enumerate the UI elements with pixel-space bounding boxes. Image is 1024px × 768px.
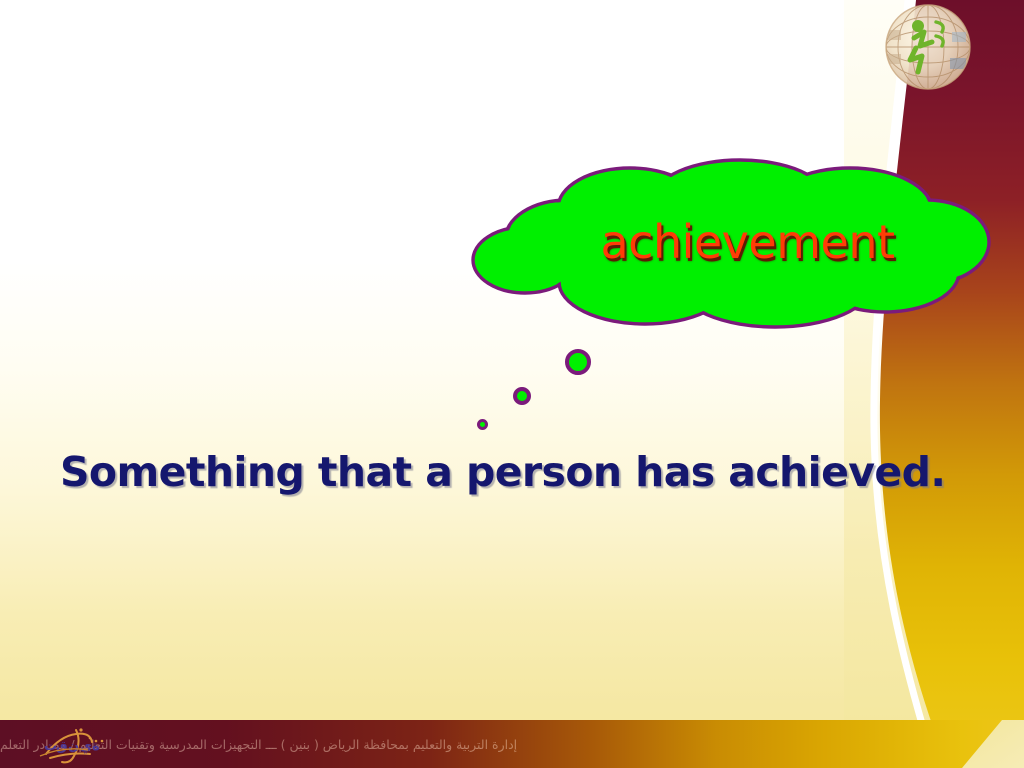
thought-dot-medium: [513, 387, 531, 405]
footer-arabic-text: إدارة التربية والتعليم بمحافظة الرياض ( …: [0, 720, 880, 768]
slide-footer: إدارة التربية والتعليم بمحافظة الرياض ( …: [0, 720, 1024, 768]
svg-text:ن: ن: [68, 739, 79, 754]
thought-dot-large: [565, 349, 591, 375]
svg-text:ق: ق: [56, 739, 68, 754]
definition-text: Something that a person has achieved.: [60, 448, 920, 496]
thought-dot-small: [477, 419, 488, 430]
cloud-word-container: achievement: [455, 160, 1000, 335]
globe-icon: [876, 2, 986, 94]
vocabulary-word: achievement: [600, 215, 894, 269]
presentation-slide: achievement Something that a person has …: [0, 0, 1024, 768]
svg-text:ي: ي: [80, 739, 92, 754]
svg-text:ة: ة: [92, 739, 100, 754]
calligraphy-logo-icon: ت ق ن ي ة: [32, 724, 124, 766]
